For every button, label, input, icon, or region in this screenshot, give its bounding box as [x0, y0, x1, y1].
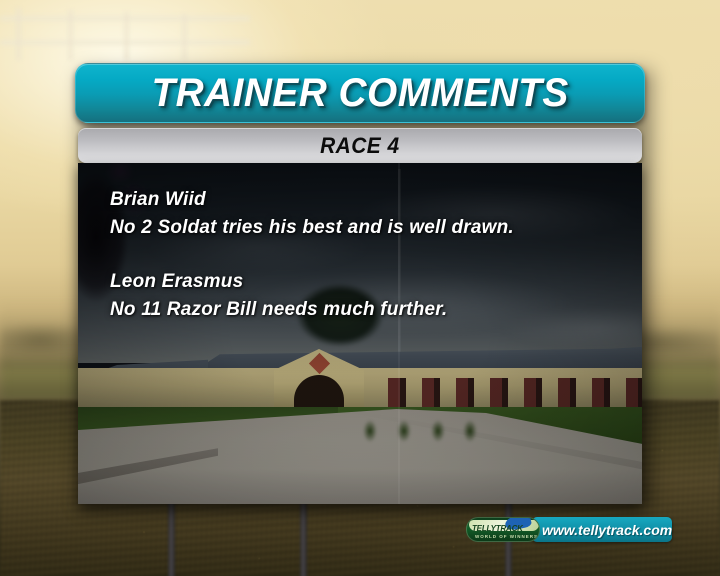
broadcast-graphic-screen: TRAINER COMMENTS RACE 4 Brian Wiid No 2 … [0, 0, 720, 576]
trainer-comments-list: Brian Wiid No 2 Soldat tries his best an… [110, 186, 580, 350]
website-url-text: www.tellytrack.com [532, 522, 672, 538]
trainer-comment-text: No 11 Razor Bill needs much further. [110, 296, 580, 324]
trainer-comment-item: Leon Erasmus No 11 Razor Bill needs much… [110, 268, 580, 324]
board-support-pole-left [168, 500, 175, 576]
logo-wordmark: TELLYTRACK [472, 524, 523, 533]
page-title: TRAINER COMMENTS [151, 71, 568, 116]
board-support-pole-center [300, 500, 307, 576]
tellytrack-logo-icon: TELLYTRACK WORLD OF WINNERS [466, 517, 540, 542]
header-bar: TRAINER COMMENTS [75, 63, 645, 123]
trainer-comment-text: No 2 Soldat tries his best and is well d… [110, 214, 580, 242]
website-url-badge[interactable]: www.tellytrack.com [532, 517, 672, 542]
trainer-comment-item: Brian Wiid No 2 Soldat tries his best an… [110, 186, 580, 242]
trainer-name: Leon Erasmus [110, 268, 580, 296]
race-label: RACE 4 [320, 133, 400, 159]
tellytrack-branding: TELLYTRACK WORLD OF WINNERS www.tellytra… [466, 517, 660, 542]
race-subtitle-bar: RACE 4 [78, 128, 642, 163]
trainer-name: Brian Wiid [110, 186, 580, 214]
logo-tagline: WORLD OF WINNERS [475, 534, 538, 539]
